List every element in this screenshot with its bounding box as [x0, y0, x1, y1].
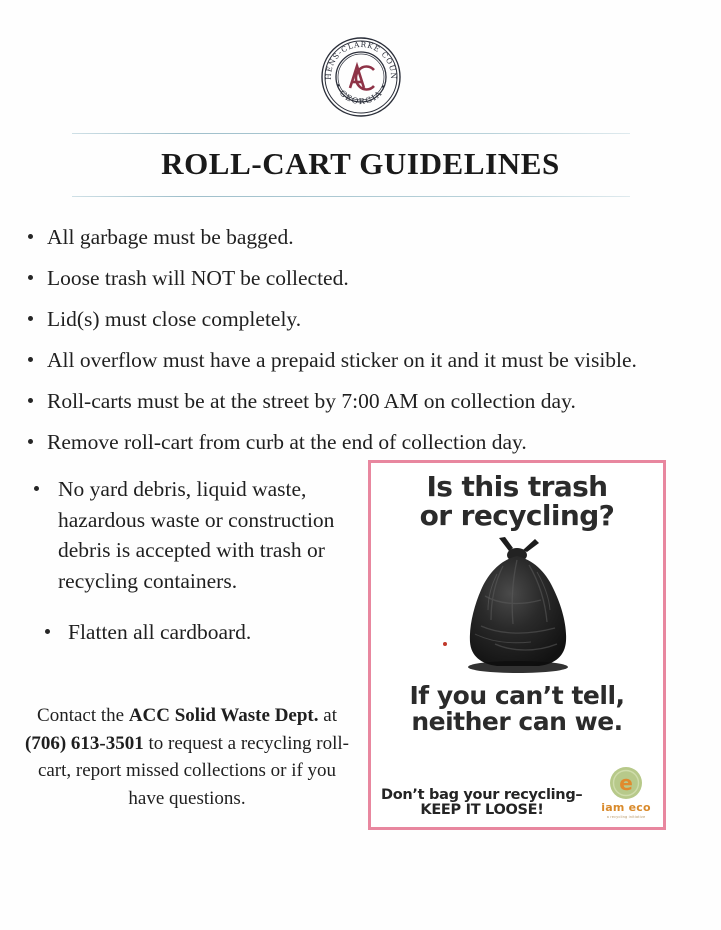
list-item: Remove roll-cart from curb at the end of… [26, 427, 686, 458]
poster-footer: Don’t bag your recycling– KEEP IT LOOSE!… [371, 766, 663, 819]
seal-container: ATHENS-CLARKE COUNTY • GEORGIA • [0, 36, 721, 118]
poster-tagline-line2: KEEP IT LOOSE! [381, 803, 597, 819]
contact-block: Contact the ACC Solid Waste Dept. at (70… [22, 702, 352, 812]
list-item: Roll-carts must be at the street by 7:00… [26, 386, 686, 417]
poster-sub-line2: neither can we. [371, 709, 663, 735]
poster-tagline-line1: Don’t bag your recycling– [381, 787, 582, 803]
page-title: ROLL-CART GUIDELINES [0, 146, 721, 182]
contact-intro: Contact the [37, 705, 129, 726]
list-item: All garbage must be bagged. [26, 222, 686, 253]
athens-clarke-county-seal-icon: ATHENS-CLARKE COUNTY • GEORGIA • [320, 36, 402, 118]
trash-bag-image [371, 534, 663, 677]
contact-department-suffix: Dept. [275, 705, 319, 726]
list-item: Lid(s) must close completely. [26, 304, 686, 335]
list-item: Flatten all cardboard. [26, 617, 348, 648]
poster-tagline: Don’t bag your recycling– KEEP IT LOOSE! [381, 788, 597, 819]
contact-phone: (706) 613-3501 [25, 733, 144, 754]
eco-circle-icon: e [609, 766, 643, 800]
svg-text:e: e [619, 771, 633, 795]
title-rule-bottom [72, 196, 630, 197]
poster-headline-line2: or recycling? [371, 502, 663, 531]
guidelines-list: All garbage must be bagged. Loose trash … [26, 222, 686, 468]
left-column: No yard debris, liquid waste, hazardous … [26, 474, 348, 669]
contact-reason-2: report missed collections or [76, 760, 287, 781]
svg-text:• GEORGIA •: • GEORGIA • [332, 82, 388, 107]
contact-department: ACC Solid Waste [129, 705, 270, 726]
page-canvas: ATHENS-CLARKE COUNTY • GEORGIA • ROLL-CA… [0, 0, 721, 930]
poster-sub-line1: If you can’t tell, [409, 681, 624, 710]
iam-eco-logo: e iam eco a recycling initiative [597, 766, 655, 819]
poster-subheadline: If you can’t tell, neither can we. [371, 683, 663, 735]
restrictions-list: No yard debris, liquid waste, hazardous … [26, 474, 348, 648]
eco-logo-name: iam eco [597, 801, 655, 814]
list-item: All overflow must have a prepaid sticker… [26, 345, 686, 376]
eco-logo-tagline: a recycling initiative [597, 815, 655, 819]
title-rule-top [72, 133, 630, 134]
list-item: No yard debris, liquid waste, hazardous … [26, 474, 348, 596]
poster-headline: Is this trash or recycling? [371, 473, 663, 530]
list-item: Loose trash will NOT be collected. [26, 263, 686, 294]
recycling-poster: Is this trash or recycling? [368, 460, 666, 830]
contact-at: at [319, 705, 337, 726]
